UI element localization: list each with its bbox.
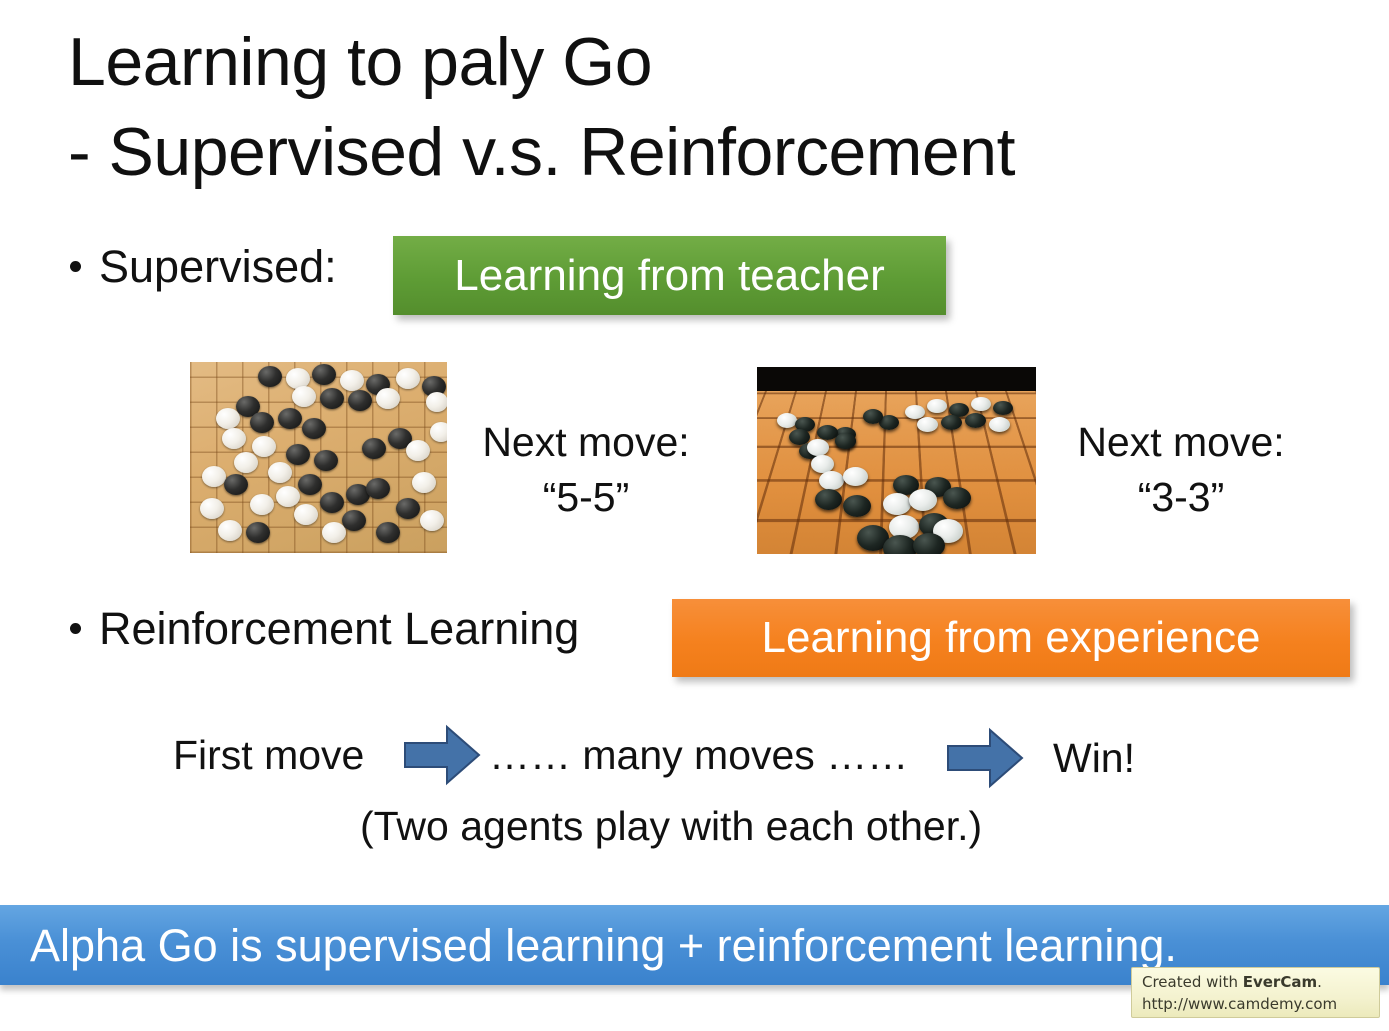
flow-first-move-label: First move bbox=[173, 735, 364, 776]
bullet-reinforcement-label: Reinforcement Learning bbox=[99, 606, 579, 651]
right-arrow-icon bbox=[946, 727, 1024, 789]
next-move-caption-left: Next move: “5-5” bbox=[466, 415, 706, 526]
bullet-dot-icon bbox=[70, 623, 81, 634]
summary-banner-label: Alpha Go is supervised learning + reinfo… bbox=[0, 923, 1177, 968]
callout-learning-from-experience: Learning from experience bbox=[672, 599, 1350, 677]
callout-experience-label: Learning from experience bbox=[762, 616, 1261, 660]
bullet-supervised: Supervised: bbox=[70, 244, 337, 289]
go-board-photo-dark bbox=[757, 367, 1036, 554]
evercam-brand-label: EverCam bbox=[1243, 973, 1317, 991]
right-arrow-icon bbox=[403, 724, 481, 786]
slide-canvas: Learning to paly Go - Supervised v.s. Re… bbox=[0, 0, 1389, 1031]
evercam-watermark: Created with EverCam. http://www.camdemy… bbox=[1131, 967, 1380, 1018]
evercam-created-with-prefix: Created with bbox=[1142, 973, 1243, 991]
goban-light bbox=[190, 362, 447, 553]
flow-many-moves-label: …… many moves …… bbox=[489, 735, 908, 776]
page-title: Learning to paly Go - Supervised v.s. Re… bbox=[68, 18, 1348, 198]
callout-teacher-label: Learning from teacher bbox=[454, 254, 884, 298]
bullet-supervised-label: Supervised: bbox=[99, 244, 337, 289]
evercam-created-with-line: Created with EverCam. bbox=[1142, 972, 1371, 994]
goban-dark bbox=[757, 367, 1036, 554]
bullet-reinforcement: Reinforcement Learning bbox=[70, 606, 579, 651]
go-board-photo-light bbox=[190, 362, 447, 553]
next-move-caption-right: Next move: “3-3” bbox=[1056, 415, 1306, 526]
evercam-period: . bbox=[1317, 973, 1322, 991]
two-agents-note: (Two agents play with each other.) bbox=[360, 806, 982, 847]
evercam-url: http://www.camdemy.com bbox=[1142, 994, 1371, 1016]
bullet-dot-icon bbox=[70, 261, 81, 272]
flow-win-label: Win! bbox=[1053, 738, 1135, 779]
callout-learning-from-teacher: Learning from teacher bbox=[393, 236, 946, 315]
